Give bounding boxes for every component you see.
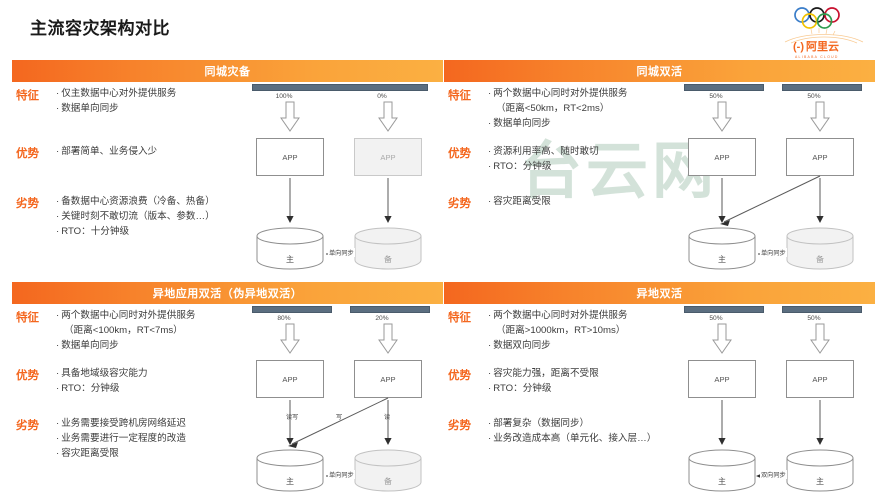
architecture-diagram: 80%20% APPAPP 读写读写 主 备单向同步 xyxy=(244,304,443,500)
alibaba-brand-text: 阿里云 xyxy=(806,42,839,53)
row-label: 劣势 xyxy=(12,416,56,461)
row-group-disadvantage: 劣势·部署复杂（数据同步）·业务改造成本高（单元化、接入层…） xyxy=(444,416,676,446)
bullet-item: ·数据单向同步 xyxy=(488,116,676,131)
bullet-item: ·仅主数据中心对外提供服务 xyxy=(56,86,244,101)
quadrant-body-tongcheng-shuanghuo: 特征·两个数据中心同时对外提供服务（距离<50km，RT<2ms）·数据单向同步… xyxy=(444,82,875,278)
row-group-advantage: 优势·具备地域级容灾能力·RTO：分钟级 xyxy=(12,366,244,396)
row-group-advantage: 优势·资源利用率高、随时敢切·RTO：分钟级 xyxy=(444,144,676,174)
architecture-diagram: 50%50% APPAPP 主 备单向同步 xyxy=(676,82,875,278)
bullet-item: ·容灾能力强，距离不受限 xyxy=(488,366,676,381)
bullet-list: ·部署简单、业务侵入少 xyxy=(56,144,244,161)
row-group-disadvantage: 劣势·备数据中心资源浪费（冷备、热备）·关键时刻不敢切流（版本、参数…）·RTO… xyxy=(12,194,244,239)
sync-label: 单向同步 xyxy=(328,470,355,479)
row-label: 劣势 xyxy=(444,194,488,211)
text-column: 特征·两个数据中心同时对外提供服务（距离<100km，RT<7ms）·数据单向同… xyxy=(12,304,244,500)
bullet-list: ·仅主数据中心对外提供服务·数据单向同步 xyxy=(56,86,244,116)
quadrant-yidi-yingyong-shuanghuo: 异地应用双活（伪异地双活）特征·两个数据中心同时对外提供服务（距离<100km，… xyxy=(12,282,443,500)
sync-label: 双向同步 xyxy=(760,470,787,479)
brand-logo: (-) 阿里云 ALIBABA CLOUD xyxy=(775,4,875,64)
row-group-disadvantage: 劣势·业务需要接受跨机房网络延迟·业务需要进行一定程度的改造·容灾距离受限 xyxy=(12,416,244,461)
bullet-item: ·部署简单、业务侵入少 xyxy=(56,144,244,159)
bullet-item: ·数据双向同步 xyxy=(488,338,676,353)
row-group-disadvantage: 劣势·容灾距离受限 xyxy=(444,194,676,211)
bullet-list: ·容灾能力强，距离不受限·RTO：分钟级 xyxy=(488,366,676,396)
row-label: 特征 xyxy=(12,308,56,353)
bullet-list: ·具备地域级容灾能力·RTO：分钟级 xyxy=(56,366,244,396)
bullet-item: ·数据单向同步 xyxy=(56,338,244,353)
bullet-item: ·两个数据中心同时对外提供服务 xyxy=(488,86,676,101)
text-column: 特征·仅主数据中心对外提供服务·数据单向同步优势·部署简单、业务侵入少劣势·备数… xyxy=(12,82,244,278)
bullet-item: ·部署复杂（数据同步） xyxy=(488,416,676,431)
quadrant-tongcheng-zaibei: 同城灾备特征·仅主数据中心对外提供服务·数据单向同步优势·部署简单、业务侵入少劣… xyxy=(12,60,443,278)
row-group-advantage: 优势·部署简单、业务侵入少 xyxy=(12,144,244,161)
bullet-item: ·RTO：分钟级 xyxy=(56,381,244,396)
bullet-list: ·备数据中心资源浪费（冷备、热备）·关键时刻不敢切流（版本、参数…）·RTO：十… xyxy=(56,194,244,239)
text-column: 特征·两个数据中心同时对外提供服务（距离<50km，RT<2ms）·数据单向同步… xyxy=(444,82,676,278)
bullet-item: ·容灾距离受限 xyxy=(488,194,676,209)
row-group-feature: 特征·两个数据中心同时对外提供服务（距离<100km，RT<7ms）·数据单向同… xyxy=(12,308,244,353)
row-label: 优势 xyxy=(12,144,56,161)
bullet-item: ·两个数据中心同时对外提供服务 xyxy=(56,308,244,323)
quadrant-header-tongcheng-zaibei: 同城灾备 xyxy=(12,60,443,82)
bullet-item: ·数据单向同步 xyxy=(56,101,244,116)
quadrant-body-tongcheng-zaibei: 特征·仅主数据中心对外提供服务·数据单向同步优势·部署简单、业务侵入少劣势·备数… xyxy=(12,82,443,278)
sync-label: 单向同步 xyxy=(760,248,787,257)
architecture-diagram: 100%0% APPAPP 主 备单向同步 xyxy=(244,82,443,278)
bullet-item: ·业务改造成本高（单元化、接入层…） xyxy=(488,431,676,446)
quadrant-body-yidi-shuanghuo: 特征·两个数据中心同时对外提供服务（距离>1000km，RT>10ms）·数据双… xyxy=(444,304,875,500)
comparison-grid: 同城灾备特征·仅主数据中心对外提供服务·数据单向同步优势·部署简单、业务侵入少劣… xyxy=(0,60,887,500)
row-label: 劣势 xyxy=(444,416,488,446)
bullet-item: ·具备地域级容灾能力 xyxy=(56,366,244,381)
bullet-item: ·两个数据中心同时对外提供服务 xyxy=(488,308,676,323)
bullet-list: ·容灾距离受限 xyxy=(488,194,676,211)
architecture-diagram: 50%50% APPAPP 主 主双向同步 xyxy=(676,304,875,500)
row-group-feature: 特征·仅主数据中心对外提供服务·数据单向同步 xyxy=(12,86,244,116)
quadrant-header-tongcheng-shuanghuo: 同城双活 xyxy=(444,60,875,82)
quadrant-tongcheng-shuanghuo: 同城双活特征·两个数据中心同时对外提供服务（距离<50km，RT<2ms）·数据… xyxy=(444,60,875,278)
quadrant-yidi-shuanghuo: 异地双活特征·两个数据中心同时对外提供服务（距离>1000km，RT>10ms）… xyxy=(444,282,875,500)
alibaba-brand-subtext: ALIBABA CLOUD xyxy=(795,55,839,59)
bullet-list: ·两个数据中心同时对外提供服务（距离>1000km，RT>10ms）·数据双向同… xyxy=(488,308,676,353)
bullet-list: ·业务需要接受跨机房网络延迟·业务需要进行一定程度的改造·容灾距离受限 xyxy=(56,416,244,461)
bullet-item: （距离<50km，RT<2ms） xyxy=(488,101,676,116)
row-group-feature: 特征·两个数据中心同时对外提供服务（距离<50km，RT<2ms）·数据单向同步 xyxy=(444,86,676,131)
row-label: 优势 xyxy=(444,144,488,174)
row-label: 劣势 xyxy=(12,194,56,239)
bullet-item: ·关键时刻不敢切流（版本、参数…） xyxy=(56,209,244,224)
row-label: 优势 xyxy=(12,366,56,396)
bullet-item: （距离<100km，RT<7ms） xyxy=(56,323,244,338)
bullet-list: ·部署复杂（数据同步）·业务改造成本高（单元化、接入层…） xyxy=(488,416,676,446)
alibaba-cloud-logo: (-) 阿里云 xyxy=(793,42,839,53)
bullet-item: （距离>1000km，RT>10ms） xyxy=(488,323,676,338)
bullet-item: ·容灾距离受限 xyxy=(56,446,244,461)
bullet-list: ·资源利用率高、随时敢切·RTO：分钟级 xyxy=(488,144,676,174)
text-column: 特征·两个数据中心同时对外提供服务（距离>1000km，RT>10ms）·数据双… xyxy=(444,304,676,500)
row-label: 特征 xyxy=(444,86,488,131)
row-group-feature: 特征·两个数据中心同时对外提供服务（距离>1000km，RT>10ms）·数据双… xyxy=(444,308,676,353)
bullet-list: ·两个数据中心同时对外提供服务（距离<50km，RT<2ms）·数据单向同步 xyxy=(488,86,676,131)
sync-label: 单向同步 xyxy=(328,248,355,257)
quadrant-body-yidi-yingyong-shuanghuo: 特征·两个数据中心同时对外提供服务（距离<100km，RT<7ms）·数据单向同… xyxy=(12,304,443,500)
row-label: 优势 xyxy=(444,366,488,396)
bullet-item: ·RTO：分钟级 xyxy=(488,159,676,174)
bullet-item: ·RTO：十分钟级 xyxy=(56,224,244,239)
row-label: 特征 xyxy=(12,86,56,116)
quadrant-header-yidi-yingyong-shuanghuo: 异地应用双活（伪异地双活） xyxy=(12,282,443,304)
bullet-list: ·两个数据中心同时对外提供服务（距离<100km，RT<7ms）·数据单向同步 xyxy=(56,308,244,353)
row-group-advantage: 优势·容灾能力强，距离不受限·RTO：分钟级 xyxy=(444,366,676,396)
bullet-item: ·业务需要接受跨机房网络延迟 xyxy=(56,416,244,431)
bullet-item: ·RTO：分钟级 xyxy=(488,381,676,396)
bullet-item: ·备数据中心资源浪费（冷备、热备） xyxy=(56,194,244,209)
alibaba-bracket-mark: (-) xyxy=(793,42,804,53)
quadrant-header-yidi-shuanghuo: 异地双活 xyxy=(444,282,875,304)
bullet-item: ·资源利用率高、随时敢切 xyxy=(488,144,676,159)
page-title: 主流容灾架构对比 xyxy=(30,14,170,39)
bullet-item: ·业务需要进行一定程度的改造 xyxy=(56,431,244,446)
row-label: 特征 xyxy=(444,308,488,353)
